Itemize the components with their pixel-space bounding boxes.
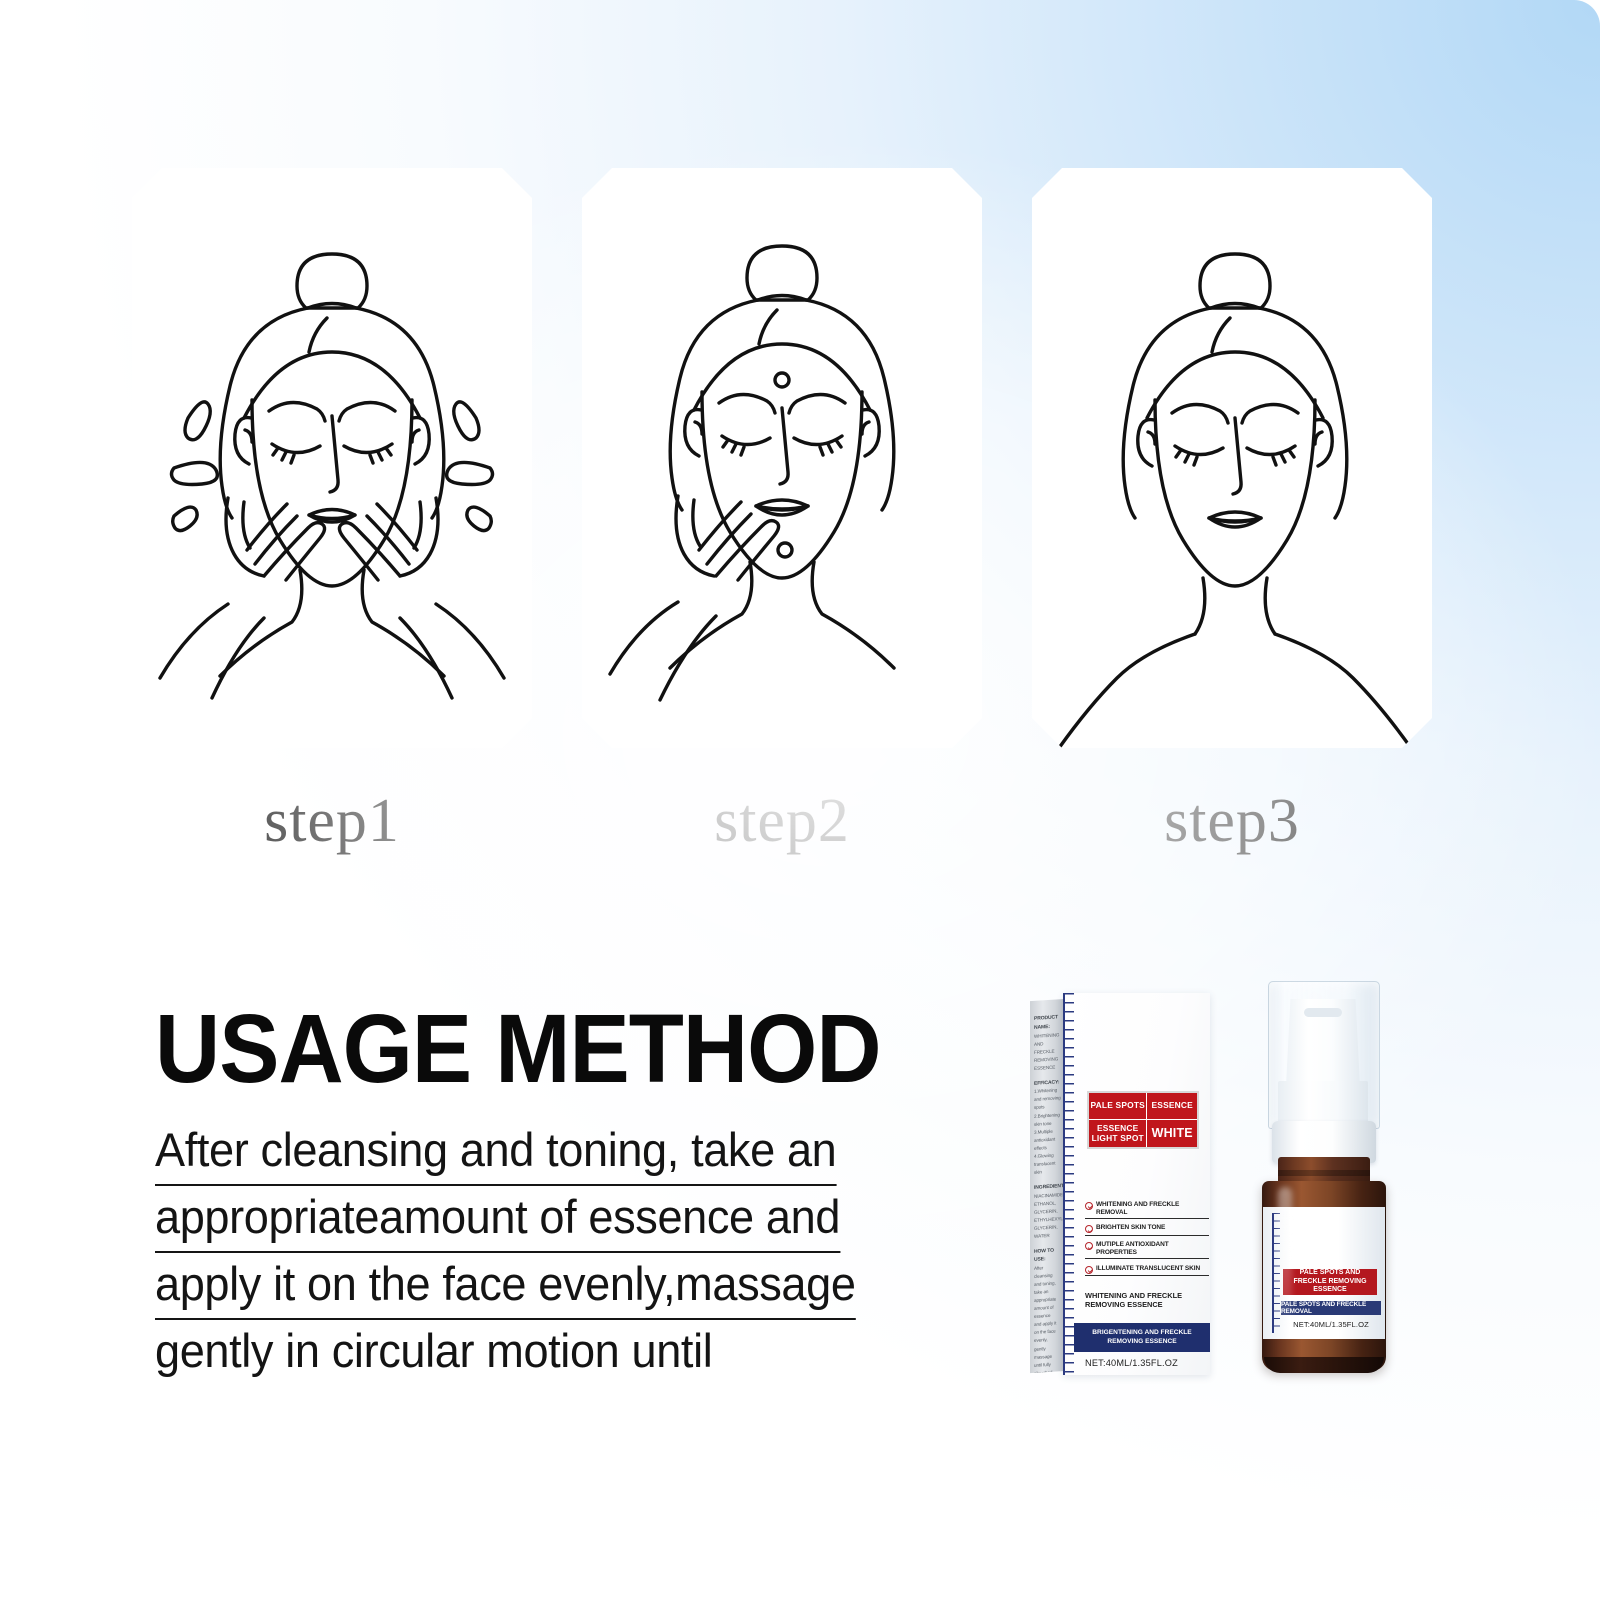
page-title: USAGE METHOD: [155, 1000, 927, 1099]
woman-splashing-water-on-face-icon: [132, 168, 532, 748]
usage-description: After cleansing and toning, take an appr…: [155, 1119, 952, 1385]
carton-front-panel: PALE SPOTS ESSENCE ESSENCE LIGHT SPOT WH…: [1063, 993, 1210, 1375]
step-3-label: step3: [1032, 786, 1432, 857]
feature-text: WHITENING AND FRECKLE REMOVAL: [1096, 1201, 1209, 1216]
side-text: GLYCERIN, ETHYLHEXYL GLYCERIN,: [1034, 1207, 1061, 1233]
side-text: NIACINAMIDE, ETHANOL,: [1034, 1191, 1061, 1209]
side-text: REMOVING ESSENCE: [1034, 1055, 1061, 1073]
side-text: WHITENING AND FRECKLE: [1034, 1031, 1061, 1057]
product-shot: PRODUCT NAME: WHITENING AND FRECKLE REMO…: [1020, 975, 1450, 1395]
step-2-label: step2: [582, 786, 982, 857]
side-text: WATER: [1034, 1231, 1061, 1241]
side-heading-how-to-use: HOW TO USE:: [1034, 1246, 1061, 1265]
badge-cell-pale-spots: PALE SPOTS: [1089, 1093, 1147, 1120]
check-circle-icon: [1085, 1266, 1093, 1274]
bottle-base-shadow: [1264, 1357, 1384, 1373]
usage-line-2: appropriateamount of essence and: [155, 1186, 840, 1253]
bottle-pump-head: [1286, 999, 1360, 1087]
carton-feature-list: WHITENING AND FRECKLE REMOVAL BRIGHTEN S…: [1085, 1201, 1209, 1282]
carton-feature-item: MUTIPLE ANTIOXIDANT PROPERTIES: [1085, 1241, 1209, 1259]
product-bottle: PALE SPOTS AND FRECKLE REMOVING ESSENCE …: [1234, 981, 1412, 1377]
carton-feature-item: BRIGHTEN SKIN TONE: [1085, 1224, 1209, 1236]
badge-cell-essence: ESSENCE: [1147, 1093, 1197, 1120]
usage-method-infographic: step1: [0, 0, 1600, 1600]
usage-line-3: apply it on the face evenly,massage: [155, 1253, 856, 1320]
step-2-illustration-card: [582, 168, 982, 748]
step-1-label: step1: [132, 786, 532, 857]
bottle-red-label: PALE SPOTS AND FRECKLE REMOVING ESSENCE: [1283, 1269, 1377, 1295]
side-text: 1.Whitening and removing spots: [1034, 1087, 1061, 1113]
side-text: gently massage until fully absorbed,: [1034, 1344, 1061, 1373]
carton-feature-item: WHITENING AND FRECKLE REMOVAL: [1085, 1201, 1209, 1219]
carton-feature-item: ILLUMINATE TRANSLUCENT SKIN: [1085, 1265, 1209, 1277]
usage-method-text-block: USAGE METHOD After cleansing and toning,…: [155, 1000, 985, 1385]
carton-subline: WHITENING AND FRECKLE REMOVING ESSENCE: [1085, 1291, 1209, 1310]
woman-applying-essence-to-cheek-icon: [582, 168, 982, 748]
step-3-illustration-card: [1032, 168, 1432, 748]
carton-side-panel: PRODUCT NAME: WHITENING AND FRECKLE REMO…: [1030, 999, 1064, 1373]
carton-net-content: NET:40ML/1.35FL.OZ: [1085, 1358, 1209, 1368]
feature-text: ILLUMINATE TRANSLUCENT SKIN: [1096, 1265, 1200, 1273]
feature-text: MUTIPLE ANTIOXIDANT PROPERTIES: [1096, 1241, 1209, 1256]
check-circle-icon: [1085, 1202, 1093, 1210]
side-text: After cleansing and toning, take an: [1034, 1263, 1061, 1297]
feature-text: BRIGHTEN SKIN TONE: [1096, 1224, 1165, 1232]
side-text: 2.Brightening skin tone: [1034, 1111, 1061, 1129]
side-text: 4.Glowing translucent skin: [1034, 1151, 1061, 1177]
side-text: 3.Multiple antioxidant effects: [1034, 1127, 1061, 1153]
side-text: and apply it on the face evenly,: [1034, 1320, 1061, 1346]
carton-blue-bar: BRIGENTENING AND FRECKLE REMOVING ESSENC…: [1074, 1323, 1210, 1352]
badge-cell-essence-light-spot: ESSENCE LIGHT SPOT: [1089, 1120, 1147, 1147]
bottle-pump-base: [1278, 1081, 1368, 1125]
step-1-illustration-card: [132, 168, 532, 748]
carton-red-badge: PALE SPOTS ESSENCE ESSENCE LIGHT SPOT WH…: [1087, 1091, 1199, 1149]
badge-cell-white: WHITE: [1147, 1120, 1197, 1147]
usage-line-1: After cleansing and toning, take an: [155, 1119, 836, 1186]
check-circle-icon: [1085, 1242, 1093, 1250]
bottle-net-content: NET:40ML/1.35FL.OZ: [1281, 1320, 1381, 1329]
side-heading-product-name: PRODUCT NAME:: [1034, 1013, 1061, 1032]
woman-finished-clear-face-icon: [1032, 168, 1432, 748]
bottle-blue-label: PALE SPOTS AND FRECKLE REMOVAL: [1281, 1301, 1381, 1315]
bottle-highlight: [1278, 1187, 1292, 1337]
check-circle-icon: [1085, 1225, 1093, 1233]
side-text: appropriate amount of essence: [1034, 1296, 1061, 1322]
usage-line-4: gently in circular motion until: [155, 1320, 712, 1385]
carton-ruler-decoration: [1063, 993, 1074, 1375]
carton-side-text: PRODUCT NAME: WHITENING AND FRECKLE REMO…: [1034, 1013, 1061, 1373]
product-carton: PRODUCT NAME: WHITENING AND FRECKLE REMO…: [1030, 993, 1210, 1375]
